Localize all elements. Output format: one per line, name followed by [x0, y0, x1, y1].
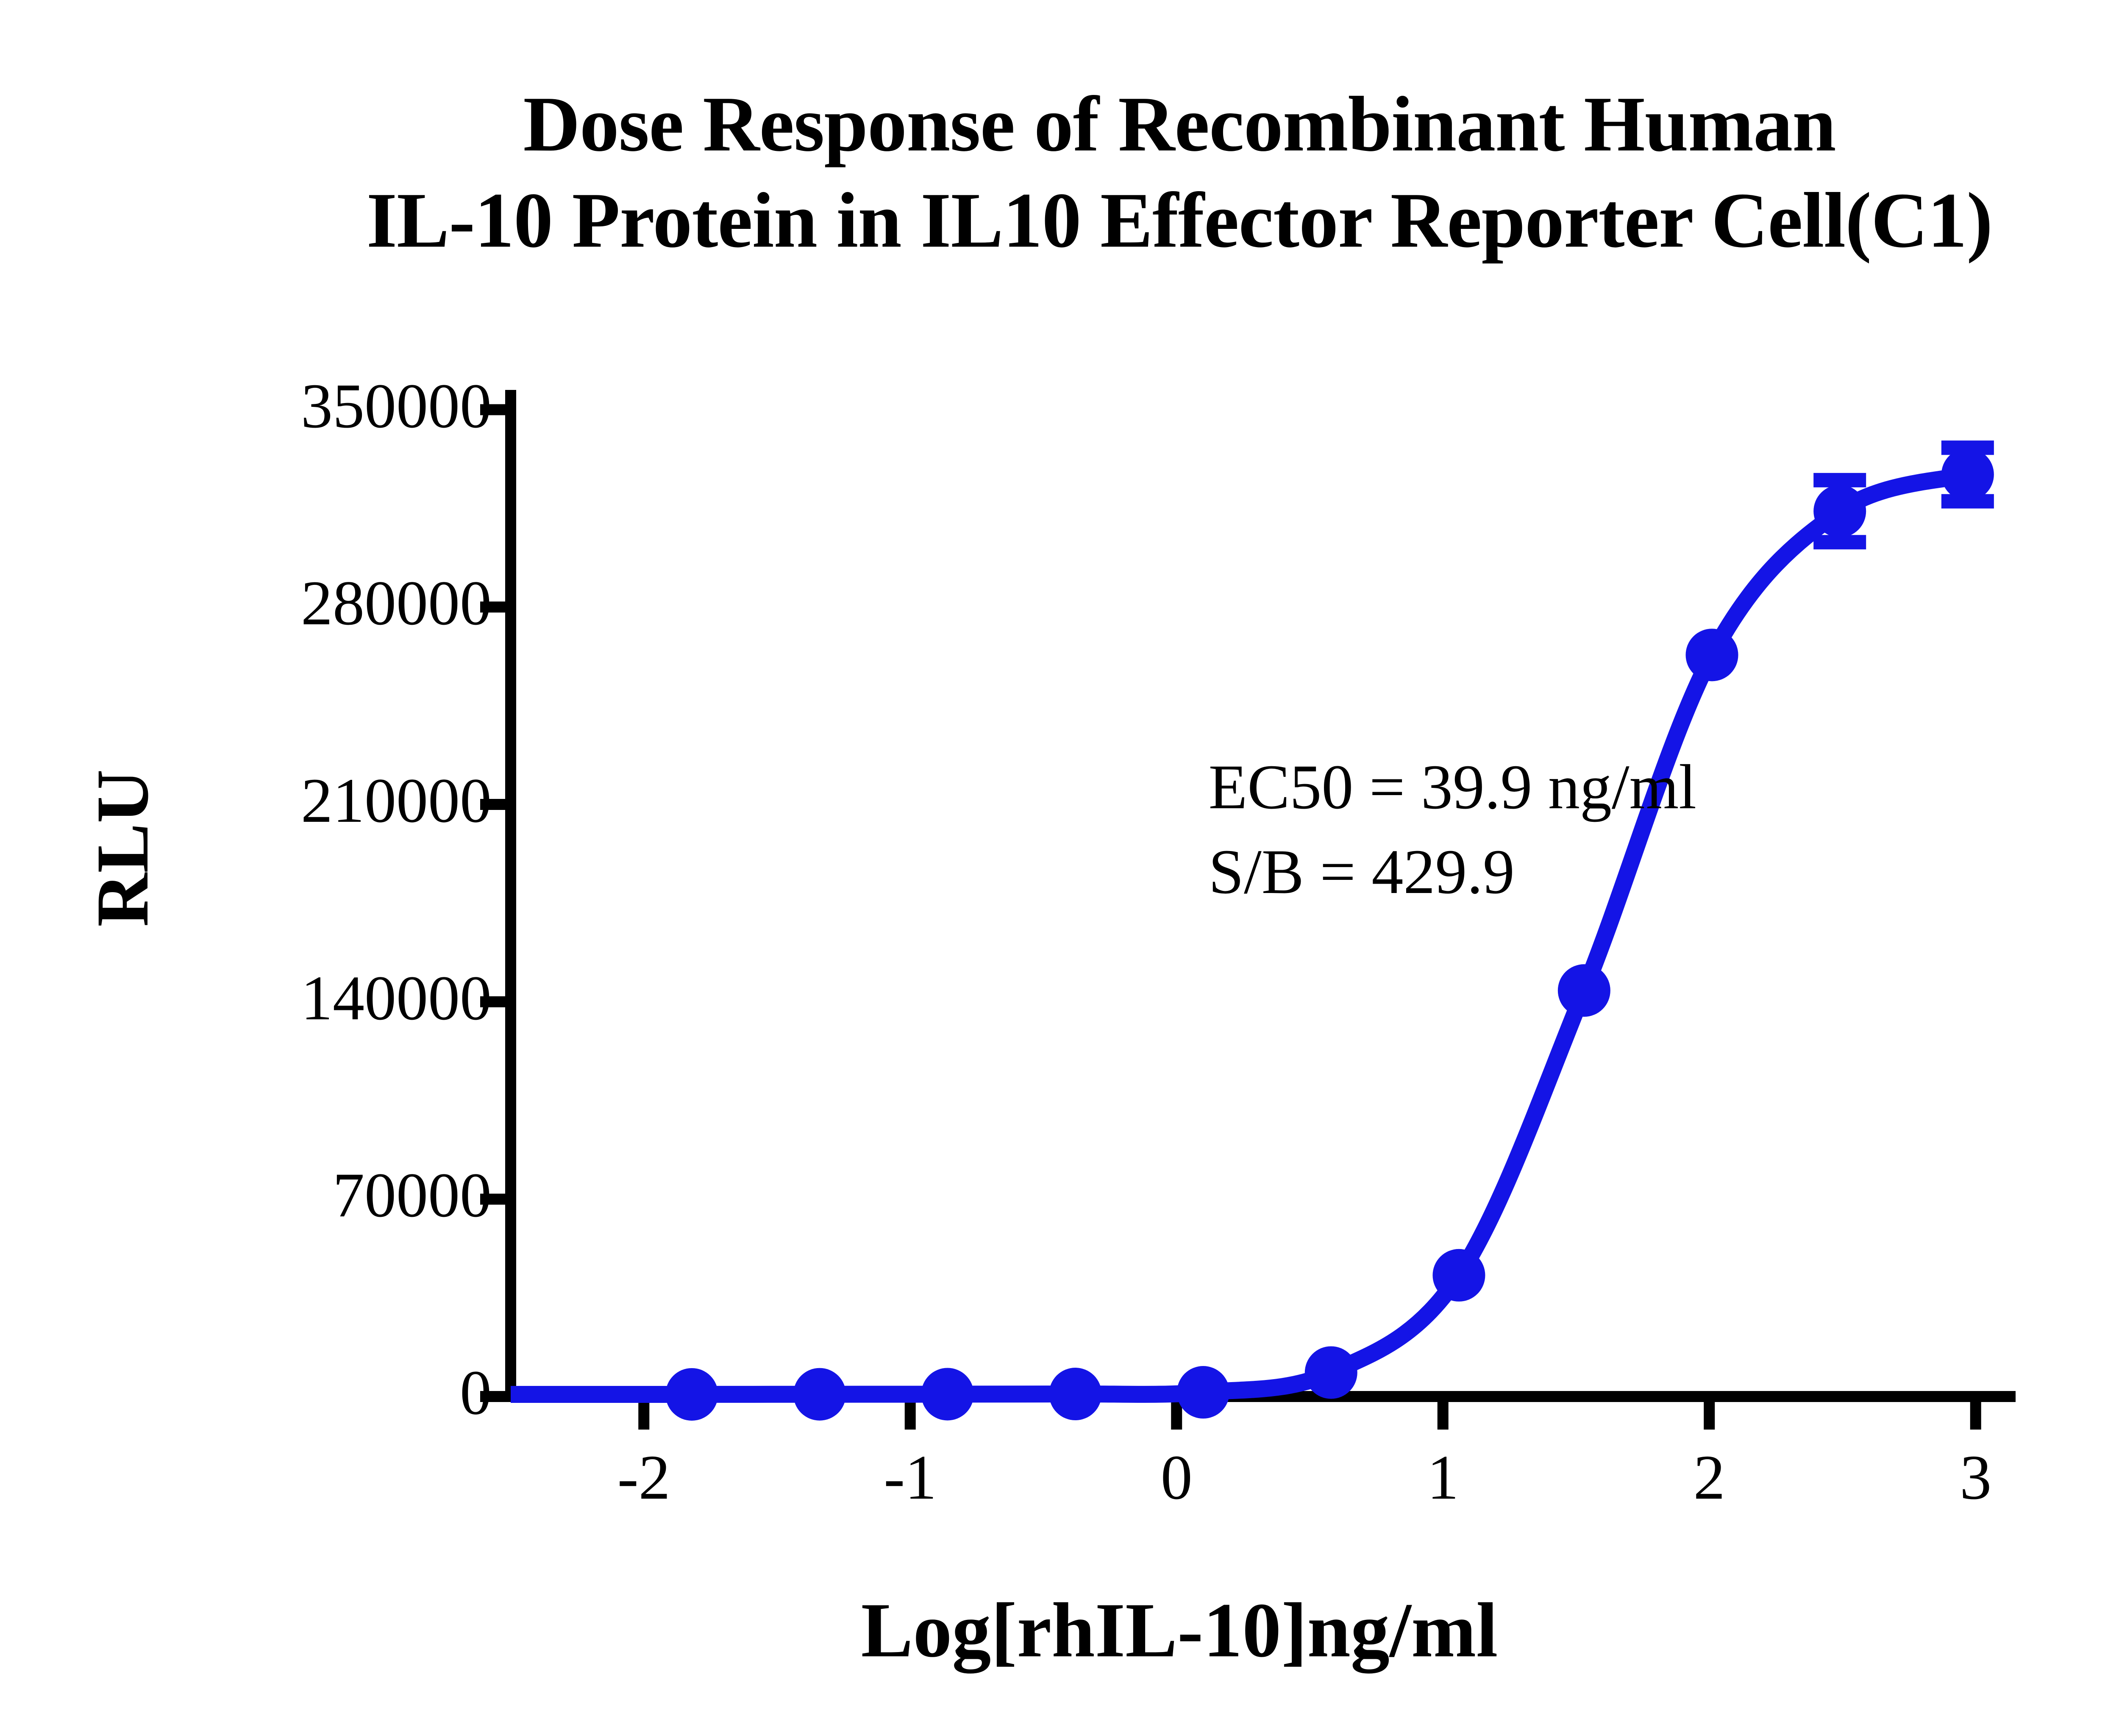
data-point-0-6: [1432, 1249, 1485, 1302]
data-point-0-8: [1686, 629, 1738, 681]
plot-canvas: [0, 0, 2119, 1736]
y-tick-label-2: 140000: [110, 962, 492, 1035]
chart-figure: Dose Response of Recombinant Human IL-10…: [0, 0, 2119, 1736]
x-tick-label-0: -2: [559, 1441, 729, 1514]
data-point-0-4: [1177, 1366, 1229, 1419]
chart-annotation-1: S/B = 429.9: [1209, 835, 1515, 908]
data-series: [511, 448, 1994, 1421]
y-tick-label-4: 280000: [110, 567, 492, 640]
x-tick-label-2: 0: [1092, 1441, 1261, 1514]
x-tick-label-3: 1: [1358, 1441, 1528, 1514]
data-point-0-2: [921, 1368, 974, 1420]
y-tick-label-3: 210000: [110, 764, 492, 837]
data-point-0-10: [1941, 448, 1994, 501]
y-tick-label-1: 70000: [110, 1159, 492, 1232]
data-point-0-0: [665, 1368, 718, 1421]
data-point-0-1: [793, 1368, 846, 1421]
x-tick-label-1: -1: [826, 1441, 995, 1514]
data-point-0-7: [1558, 964, 1610, 1017]
chart-annotation-0: EC50 = 39.9 ng/ml: [1209, 751, 1696, 823]
y-tick-label-5: 350000: [110, 370, 492, 442]
series-line-0: [692, 475, 1968, 1394]
data-point-0-5: [1305, 1346, 1357, 1399]
data-point-0-3: [1049, 1368, 1101, 1420]
y-tick-label-0: 0: [110, 1356, 492, 1429]
data-point-0-9: [1813, 485, 1866, 537]
x-tick-label-5: 3: [1891, 1441, 2061, 1514]
x-tick-label-4: 2: [1624, 1441, 1794, 1514]
